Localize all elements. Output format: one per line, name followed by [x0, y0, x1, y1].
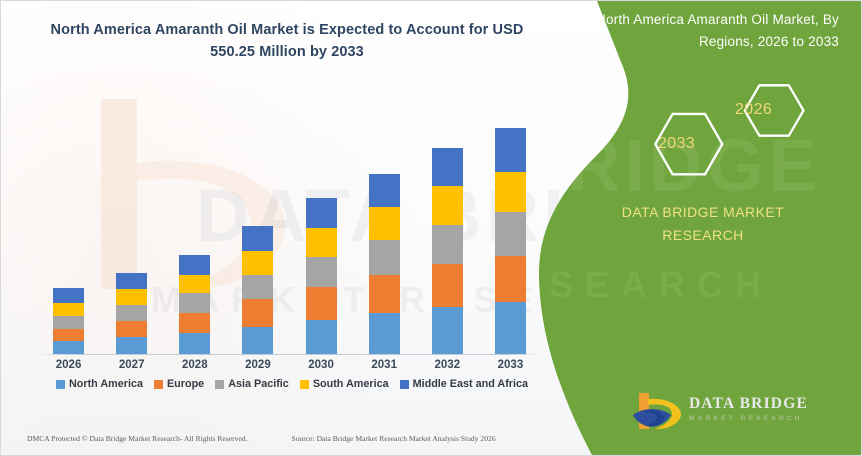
- infographic-root: DATA BRIDGE MARKET RESEARCH North Americ…: [0, 0, 862, 456]
- bar-segment[interactable]: [495, 256, 526, 302]
- hexagon-group: 2033 2026: [559, 79, 839, 189]
- data-bridge-mark-icon: [631, 389, 685, 433]
- bar-segment[interactable]: [432, 264, 463, 307]
- bar-segment[interactable]: [495, 172, 526, 212]
- bar-segment[interactable]: [306, 257, 337, 287]
- bar-segment[interactable]: [432, 148, 463, 186]
- bar-segment[interactable]: [432, 225, 463, 264]
- bar-segment[interactable]: [369, 313, 400, 354]
- bar-segment[interactable]: [242, 251, 273, 275]
- bar-segment[interactable]: [116, 305, 147, 321]
- x-axis-labels: 20262027202820292030203120322033: [37, 359, 542, 377]
- bar-segment[interactable]: [495, 212, 526, 256]
- legend-label: Middle East and Africa: [413, 378, 528, 390]
- bar-stack-2027[interactable]: [116, 109, 147, 354]
- bar-segment[interactable]: [179, 293, 210, 313]
- logo-title: DATA BRIDGE: [689, 395, 808, 413]
- hexagon-label-2026: 2026: [735, 101, 772, 119]
- stacked-bar-chart: [37, 109, 542, 355]
- brand-line-1: DATA BRIDGE MARKET: [622, 204, 784, 220]
- bar-segment[interactable]: [306, 198, 337, 227]
- bar-stack-2032[interactable]: [432, 109, 463, 354]
- legend-swatch-icon: [300, 380, 309, 389]
- bar-stack-2031[interactable]: [369, 109, 400, 354]
- bar-segment[interactable]: [179, 313, 210, 334]
- footer: DMCA Protected © Data Bridge Market Rese…: [27, 431, 547, 445]
- bar-segment[interactable]: [369, 207, 400, 240]
- bar-segment[interactable]: [116, 289, 147, 305]
- hexagon-shapes-icon: [559, 79, 839, 189]
- bar-segment[interactable]: [369, 240, 400, 274]
- bar-segment[interactable]: [53, 329, 84, 342]
- bar-segment[interactable]: [495, 302, 526, 354]
- bar-segment[interactable]: [495, 128, 526, 172]
- x-axis-tick-2027: 2027: [100, 359, 163, 371]
- bar-segment[interactable]: [242, 275, 273, 300]
- legend-label: South America: [313, 378, 389, 390]
- legend-swatch-icon: [400, 380, 409, 389]
- bar-segment[interactable]: [53, 288, 84, 303]
- bar-segment[interactable]: [242, 327, 273, 354]
- chart-baseline: [37, 354, 542, 355]
- data-bridge-logo: DATA BRIDGE MARKET RESEARCH: [631, 389, 821, 439]
- bar-segment[interactable]: [369, 275, 400, 313]
- footer-source-text: Source: Data Bridge Market Research Mark…: [291, 434, 495, 443]
- bar-segment[interactable]: [53, 316, 84, 329]
- legend-item-south-america[interactable]: South America: [300, 378, 389, 390]
- x-axis-tick-2032: 2032: [416, 359, 479, 371]
- legend-item-europe[interactable]: Europe: [154, 378, 204, 390]
- legend-label: Europe: [167, 378, 204, 390]
- bar-segment[interactable]: [306, 287, 337, 319]
- page-title: North America Amaranth Oil Market is Exp…: [37, 19, 537, 63]
- bar-segment[interactable]: [432, 186, 463, 224]
- bar-stack-2030[interactable]: [306, 109, 337, 354]
- logo-subtitle: MARKET RESEARCH: [689, 415, 803, 422]
- bar-segment[interactable]: [116, 273, 147, 290]
- bar-segment[interactable]: [369, 174, 400, 207]
- footer-dmca-text: DMCA Protected © Data Bridge Market Rese…: [27, 434, 247, 443]
- legend-item-north-america[interactable]: North America: [56, 378, 143, 390]
- hexagon-label-2033: 2033: [658, 135, 695, 153]
- green-side-panel: RIDGE SEARCH North America Amaranth Oil …: [531, 1, 861, 456]
- brand-text: DATA BRIDGE MARKET RESEARCH: [567, 201, 839, 247]
- chart-legend: North AmericaEuropeAsia PacificSouth Ame…: [37, 378, 547, 390]
- bar-segment[interactable]: [306, 320, 337, 354]
- x-axis-tick-2029: 2029: [226, 359, 289, 371]
- brand-line-2: RESEARCH: [662, 227, 743, 243]
- svg-text:SEARCH: SEARCH: [549, 264, 773, 305]
- panel-title: North America Amaranth Oil Market, By Re…: [567, 9, 839, 53]
- x-axis-tick-2030: 2030: [290, 359, 353, 371]
- x-axis-tick-2026: 2026: [37, 359, 100, 371]
- legend-label: North America: [69, 378, 143, 390]
- x-axis-tick-2028: 2028: [163, 359, 226, 371]
- bar-stack-2029[interactable]: [242, 109, 273, 354]
- bar-segment[interactable]: [53, 341, 84, 354]
- chart-pane: DATA BRIDGE MARKET RESEARCH North Americ…: [1, 1, 601, 456]
- bar-stack-2026[interactable]: [53, 109, 84, 354]
- legend-swatch-icon: [215, 380, 224, 389]
- bar-segment[interactable]: [179, 333, 210, 354]
- bar-segment[interactable]: [53, 303, 84, 316]
- bar-segment[interactable]: [242, 299, 273, 326]
- bar-segment[interactable]: [179, 255, 210, 275]
- legend-swatch-icon: [56, 380, 65, 389]
- bar-stack-2033[interactable]: [495, 109, 526, 354]
- bar-segment[interactable]: [179, 275, 210, 294]
- bar-segment[interactable]: [432, 307, 463, 354]
- bar-segment[interactable]: [306, 228, 337, 257]
- bar-segment[interactable]: [116, 337, 147, 354]
- legend-swatch-icon: [154, 380, 163, 389]
- legend-item-asia-pacific[interactable]: Asia Pacific: [215, 378, 289, 390]
- legend-label: Asia Pacific: [228, 378, 289, 390]
- bar-segment[interactable]: [242, 226, 273, 251]
- bar-segment[interactable]: [116, 321, 147, 338]
- bar-stack-2028[interactable]: [179, 109, 210, 354]
- legend-item-middle-east-and-africa[interactable]: Middle East and Africa: [400, 378, 528, 390]
- x-axis-tick-2031: 2031: [353, 359, 416, 371]
